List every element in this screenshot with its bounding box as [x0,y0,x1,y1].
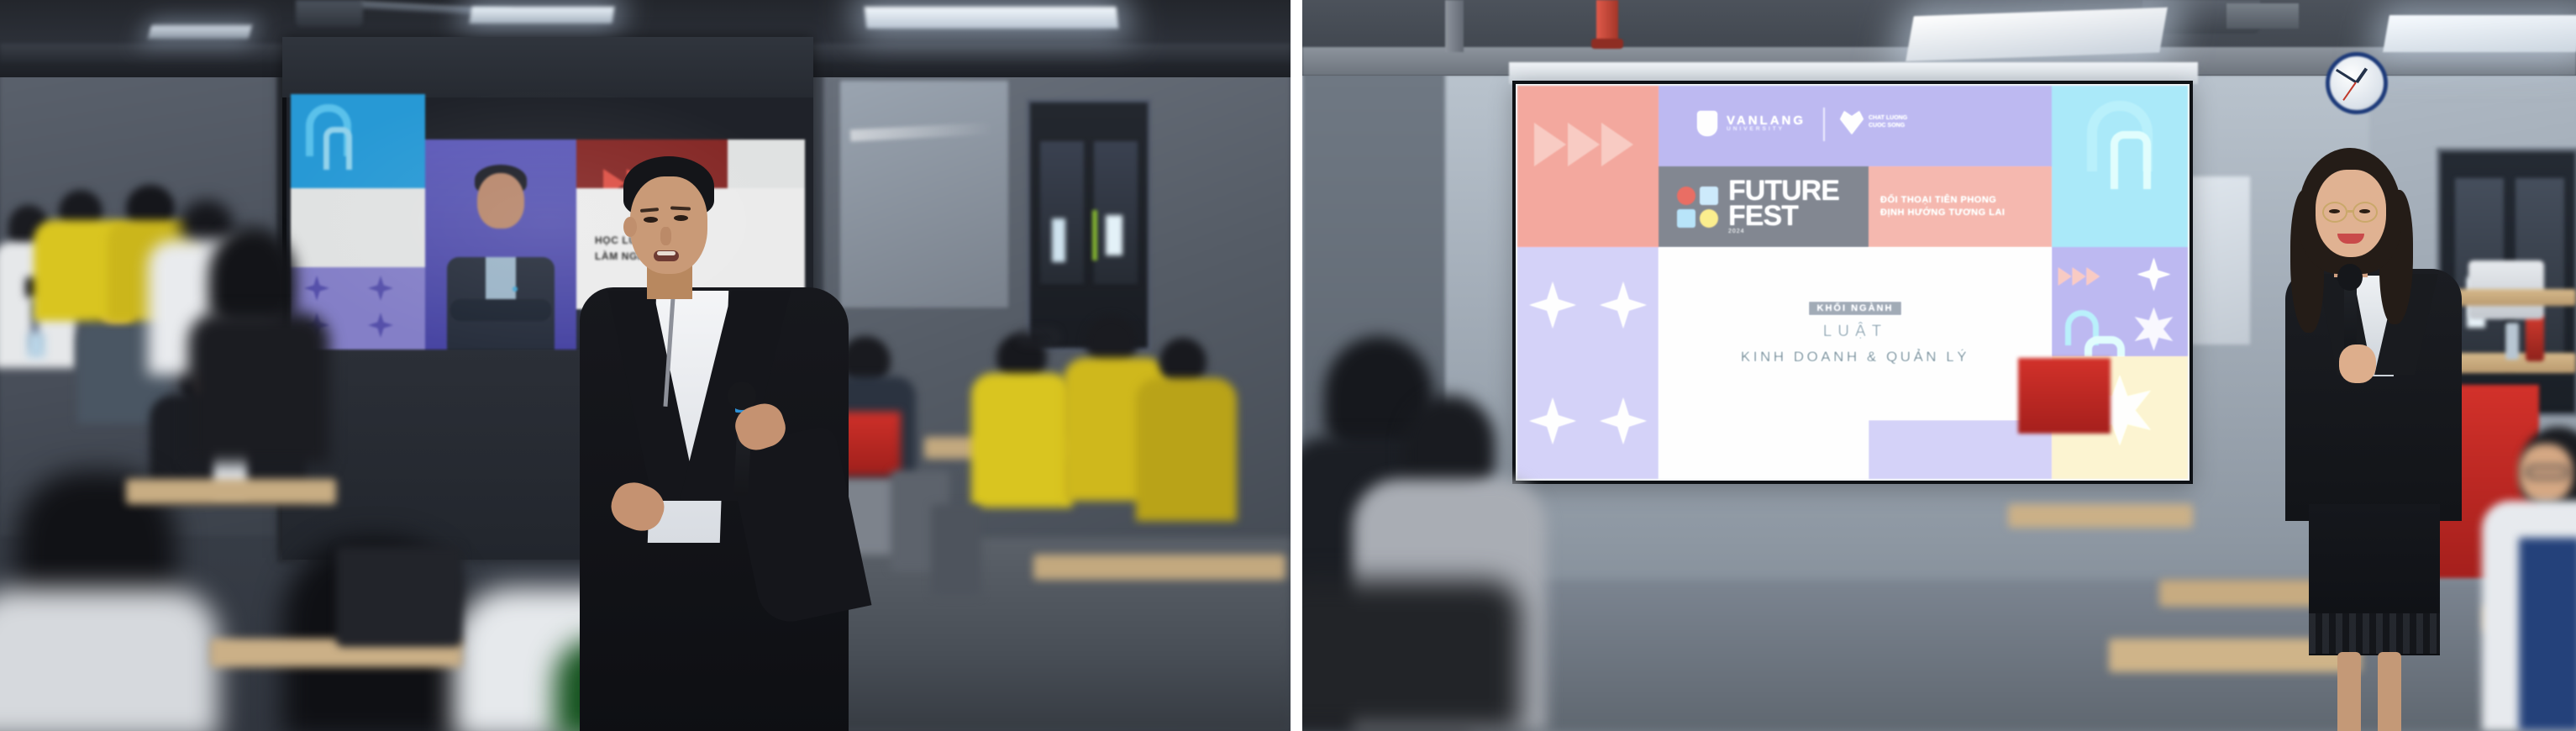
projection-screen-top [282,37,813,97]
student-glasses-icon [1018,329,1059,344]
ceiling-light-c-icon [865,7,1119,29]
right-brand-sub: UNIVERSITY [1727,127,1806,133]
ceiling-pipe-grey [1445,0,1464,52]
cup-icon [2505,323,2519,360]
right-vanlang-logo: VANLANG UNIVERSITY [1697,111,1806,136]
door-glass-right [1094,141,1138,284]
ceiling-pipe-red-flange [1591,39,1623,49]
door-reflection-a [1052,218,1065,262]
foreground-body-a [0,588,218,731]
door-glass-left [1040,141,1084,284]
water-bottle-icon [2526,314,2544,361]
right-blank-a [1659,420,1869,479]
portrait-head [477,173,524,229]
right-foreground-a [1302,580,1521,731]
right-presenter-hand [2339,344,2376,383]
arch-icon [306,104,351,156]
right-arch-icon [2087,101,2153,171]
right-red-table-cloth-2 [2018,358,2111,434]
motif-flower-icon [2132,308,2176,351]
right-star-tile [1517,247,1659,479]
presenter-ear [623,217,637,237]
khoi-nganh-badge: KHỐI NGÀNH [1809,302,1902,315]
right-presenter-skirt-lace [2309,613,2440,654]
star-icon-b [368,276,393,301]
chair-3 [931,504,981,597]
right-partner-label: CHAT LUONG CUOC SONG [1869,114,1907,129]
right-brand-bar: VANLANG UNIVERSITY CHAT LUONG CUOC SONG [1659,86,2052,166]
right-star-icon-a [1529,281,1576,329]
desk-4 [1033,555,1285,580]
right-star-icon-b [1600,281,1647,329]
slide-arch-tile [291,94,425,188]
door-reflection-b [1106,215,1122,255]
star-icon-d [368,313,393,338]
right-audience-head-2 [1403,395,1496,492]
right-ceiling-light-b-icon [2383,15,2576,52]
right-title-line2: KINH DOANH & QUẢN LÝ [1741,349,1969,365]
right-presenter-eye-left [2329,209,2340,213]
right-presenter [2285,143,2462,731]
right-future-fest-wordmark: FUTURE FEST 2024 [1728,179,1839,234]
door-exit-light-icon [1092,210,1097,260]
right-presenter-leg-left [2337,652,2361,731]
right-chevron-tile [1517,86,1659,247]
motif-chevron-icon [2057,259,2077,273]
right-shield-icon [1697,111,1717,136]
right-desk-1 [2008,504,2193,528]
ceiling-light-a-icon [148,25,252,39]
right-motif-grid-a [2052,247,2188,356]
ceiling-light-b-icon [470,7,615,24]
chair-1 [336,546,462,647]
presenter-eye-right [674,215,688,221]
right-heart-icon [1840,111,1864,134]
right-logo-divider [1823,108,1825,141]
right-ceiling-light-a-icon [1906,8,2168,61]
right-title-block: KHỐI NGÀNH LUẬT KINH DOANH & QUẢN LÝ [1659,247,2052,420]
right-photo: VANLANG UNIVERSITY CHAT LUONG CUOC SONG [1302,0,2576,731]
right-audience-glasses-icon [2526,465,2569,479]
presenter-nose [660,227,671,245]
student-body-r1 [971,373,1072,507]
right-ceiling-projector-mount [2226,3,2299,29]
slide-blank-b [291,188,425,267]
presenter-eye-left [644,217,658,223]
whiteboard [840,81,1008,308]
right-wall-clock [2326,52,2388,114]
right-star-pattern [1517,247,1659,479]
right-brand-primary: VANLANG [1727,113,1806,128]
right-kicker-text: ĐỐI THOẠI TIÊN PHONG ĐỊNH HƯỚNG TƯƠNG LA… [1869,166,2052,247]
desk-1 [126,479,336,504]
right-festival-dots-icon [1677,187,1718,228]
photo-pair-composite: VANLANG UNIVERSITY CHAT LUONG CUOC SONG [0,0,2576,731]
star-icon-a [304,276,329,301]
right-presenter-leg-right [2378,652,2401,731]
left-presenter [580,156,849,731]
ceiling-projector [296,0,363,27]
right-pattern-tile-a [2052,247,2188,356]
right-audience-vest [2519,538,2576,731]
speaker-portrait-image [425,139,576,350]
slide-speaker-portrait [425,139,576,350]
right-star-icon-c [1529,397,1576,444]
right-eventmark-cell: FUTURE FEST 2024 [1659,166,1869,247]
right-microphone-head-icon [2337,264,2363,291]
portrait-arms [450,299,551,321]
right-presenter-eye-right [2359,209,2370,213]
right-title-card: KHỐI NGÀNH LUẬT KINH DOANH & QUẢN LÝ [1659,247,2052,420]
student-body-r3 [1136,378,1237,521]
right-future-fest-logo: FUTURE FEST 2024 [1659,166,1869,247]
student-body-front-b [188,313,329,464]
right-kicker-bar: ĐỐI THOẠI TIÊN PHONG ĐỊNH HƯỚNG TƯƠNG LA… [1869,166,2052,247]
right-vanlang-wordmark: VANLANG UNIVERSITY [1727,114,1806,134]
right-title-line1: LUẬT [1823,323,1888,341]
staff-badge [27,333,45,358]
panel-gap [1291,0,1302,731]
right-presenter-glasses-bridge [2347,210,2354,213]
right-chevron-icon [1531,103,1648,187]
right-star-icon-d [1600,397,1647,444]
right-arch-tile [2052,86,2188,247]
left-photo: VANLANG UNIVERSITY CHAT LUONG CUOC SONG [0,0,1291,731]
motif-star-icon [2137,258,2171,292]
presenter-teeth [657,251,676,255]
motif-arch-icon [2065,310,2099,345]
